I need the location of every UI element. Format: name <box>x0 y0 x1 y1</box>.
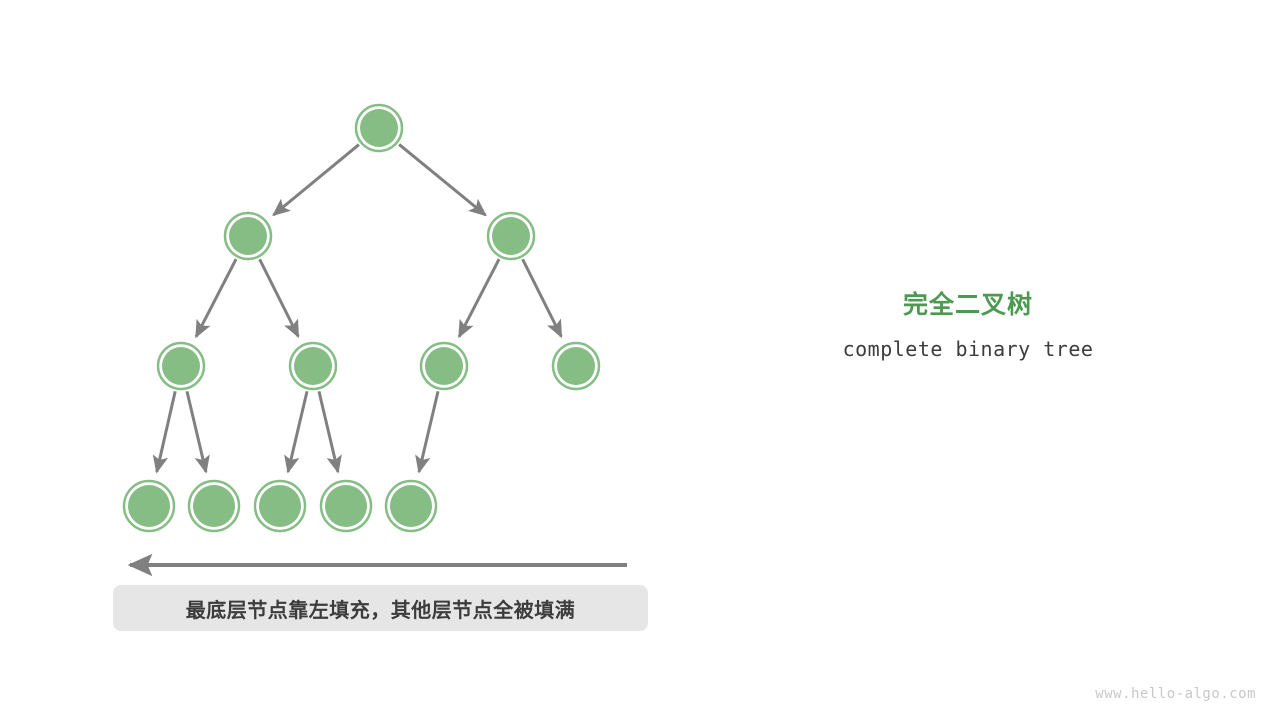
tree-node-fill <box>390 485 432 527</box>
tree-node-fill <box>425 347 463 385</box>
tree-edge <box>399 144 485 215</box>
tree-node-fill <box>360 109 398 147</box>
tree-node <box>321 481 371 531</box>
tree-node <box>158 343 204 389</box>
caption-pill: 最底层节点靠左填充，其他层节点全被填满 <box>113 585 648 631</box>
node-layer <box>124 105 599 531</box>
tree-edge <box>459 259 499 337</box>
tree-node <box>488 213 534 259</box>
tree-edge <box>523 259 562 336</box>
tree-edge <box>273 145 358 215</box>
tree-node-fill <box>229 217 267 255</box>
tree-node <box>553 343 599 389</box>
tree-edge <box>288 391 307 472</box>
diagram-subtitle: complete binary tree <box>768 334 1168 364</box>
tree-edge <box>260 259 299 336</box>
tree-node <box>386 481 436 531</box>
edge-layer <box>157 144 561 471</box>
tree-edge <box>157 391 175 472</box>
tree-edge <box>196 259 236 337</box>
tree-node <box>421 343 467 389</box>
tree-edge <box>419 391 438 472</box>
tree-node-fill <box>325 485 367 527</box>
tree-node-fill <box>259 485 301 527</box>
tree-node-fill <box>557 347 595 385</box>
tree-node-fill <box>162 347 200 385</box>
tree-node <box>356 105 402 151</box>
tree-edge <box>319 391 338 472</box>
tree-node <box>124 481 174 531</box>
tree-edge <box>187 391 206 472</box>
caption-label: 最底层节点靠左填充，其他层节点全被填满 <box>186 594 576 623</box>
tree-node <box>255 481 305 531</box>
tree-node-fill <box>492 217 530 255</box>
legend-block: 完全二叉树 complete binary tree <box>768 288 1168 364</box>
diagram-title: 完全二叉树 <box>768 288 1168 322</box>
tree-node <box>189 481 239 531</box>
tree-node-fill <box>128 485 170 527</box>
tree-node <box>225 213 271 259</box>
tree-node-fill <box>193 485 235 527</box>
tree-node <box>290 343 336 389</box>
tree-node-fill <box>294 347 332 385</box>
watermark: www.hello-algo.com <box>1095 686 1256 702</box>
